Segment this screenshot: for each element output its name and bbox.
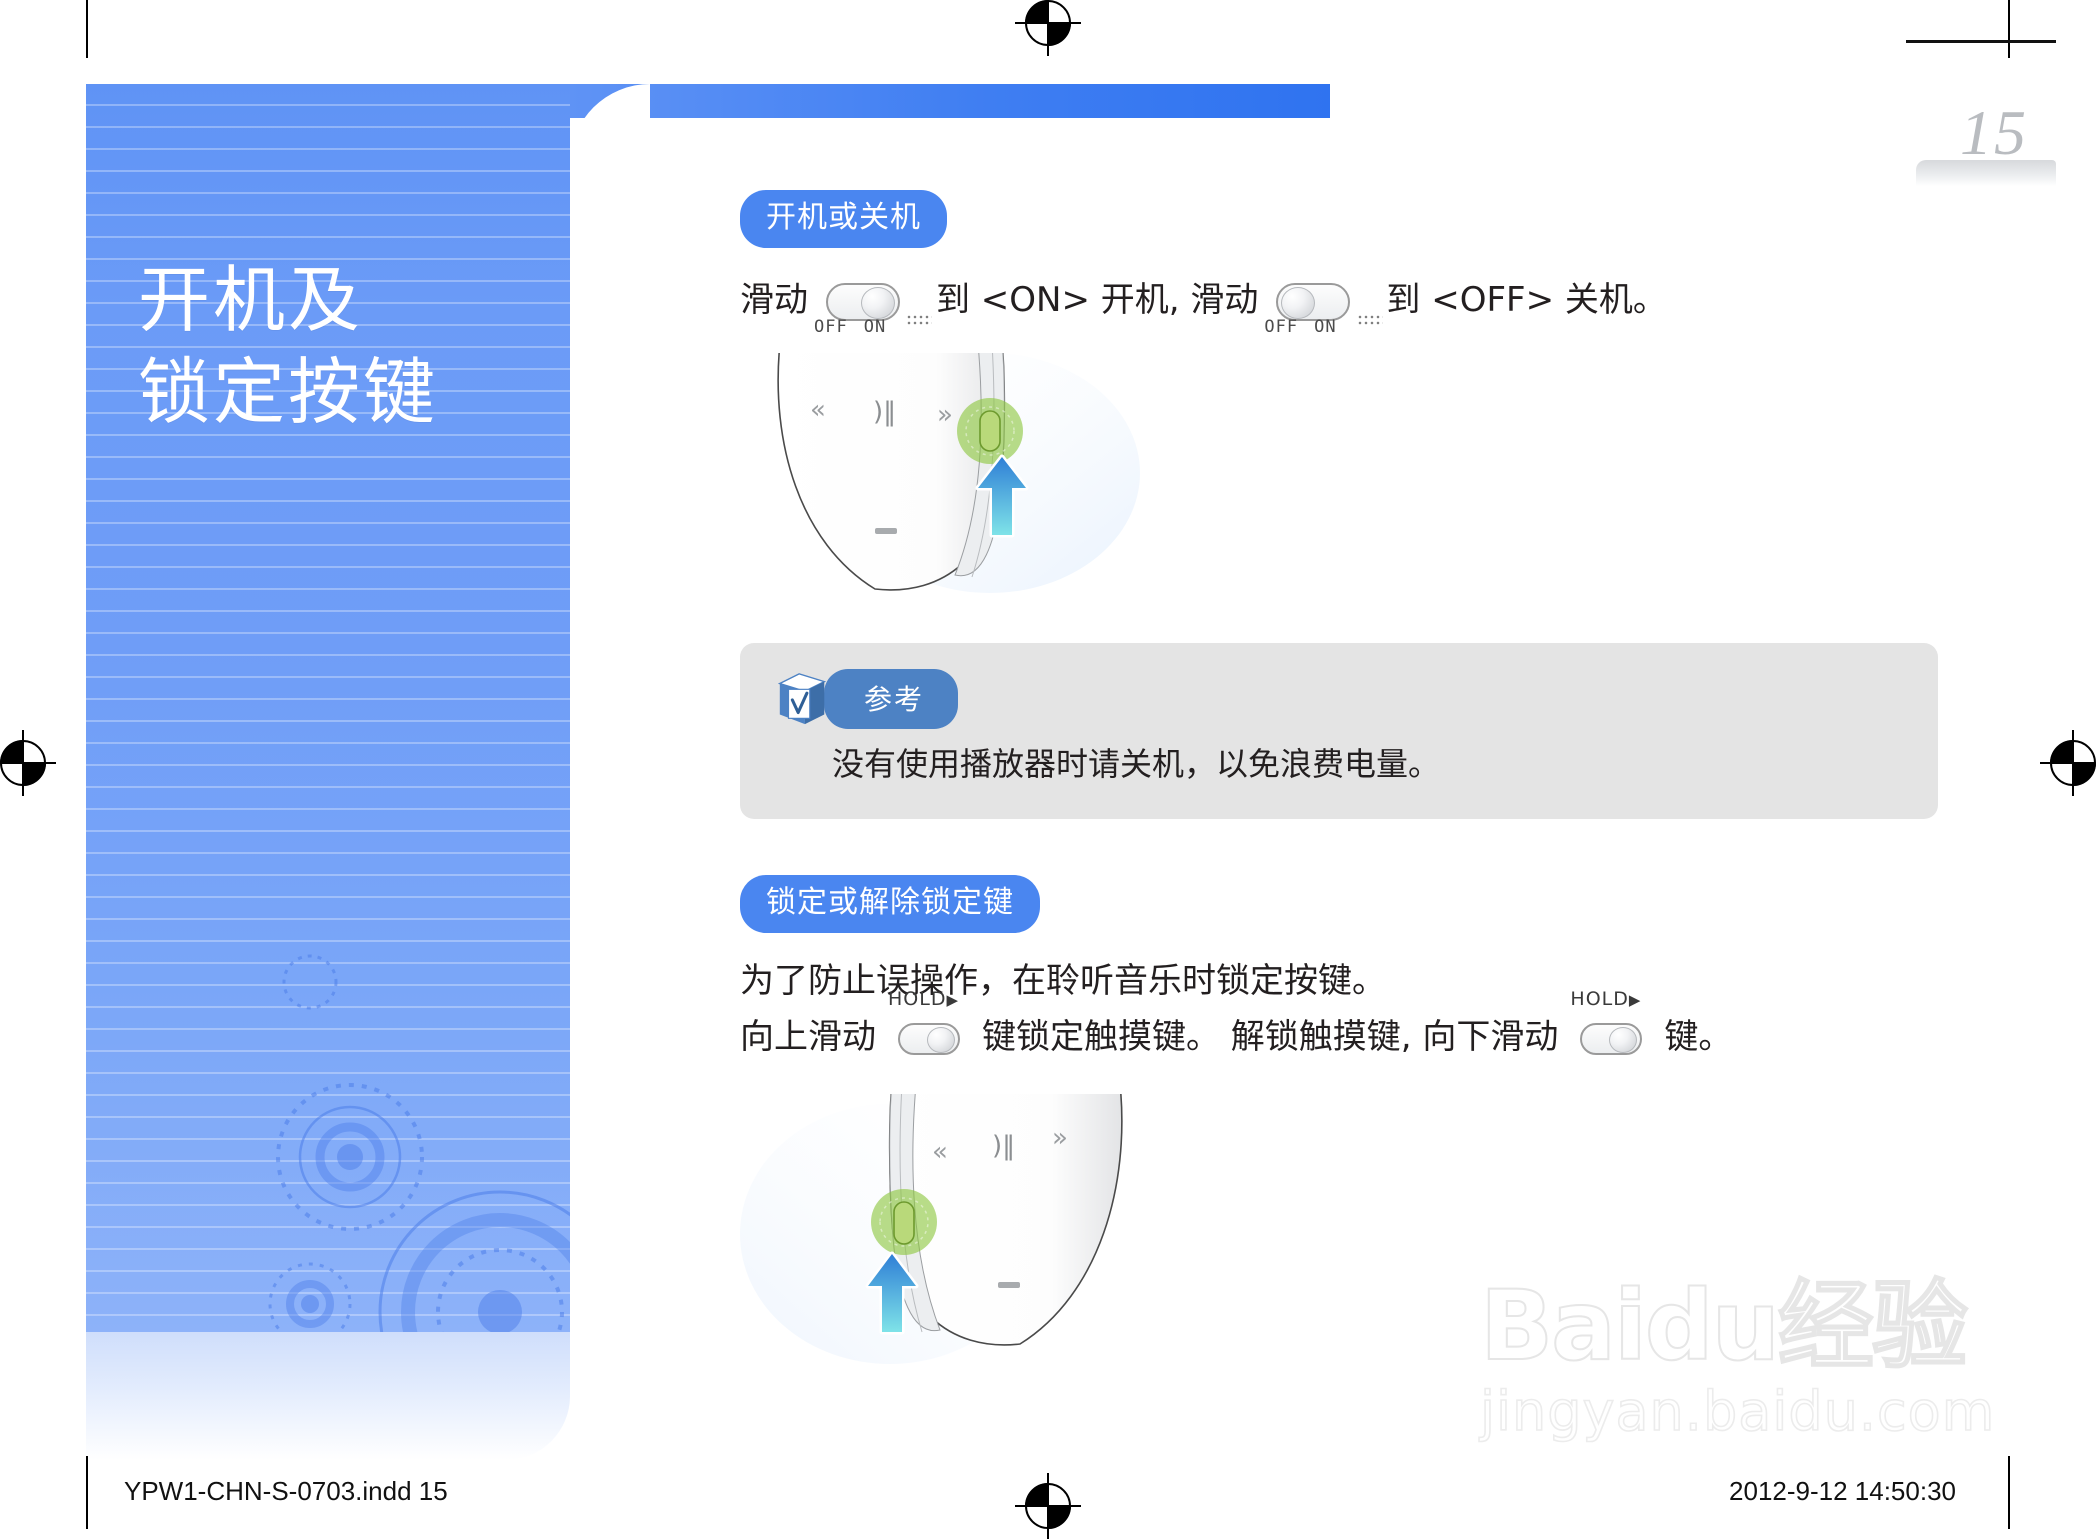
note-text: 没有使用播放器时请关机，以免浪费电量。 (832, 739, 1904, 785)
footer-filename: YPW1-CHN-S-0703.indd 15 (124, 1476, 448, 1507)
power-figure: « )‖ » (740, 353, 2040, 613)
switch-labels-on: OFF ON (814, 314, 950, 340)
hold-line-2-part-3: 键。 (1664, 1011, 1732, 1064)
watermark-sub-text: jingyan.baidu.com (1480, 1380, 2040, 1443)
braille-dots-icon (906, 314, 932, 326)
power-instruction-part-3: 到 <OFF> 关机。 (1386, 274, 1666, 327)
braille-dots-icon (1357, 314, 1383, 326)
chapter-title-line-2: 锁定按键 (138, 346, 438, 438)
svg-text:»: » (937, 400, 953, 430)
svg-text:)‖: )‖ (873, 397, 896, 427)
switch-label-on: ON (864, 314, 886, 340)
hold-label-text: HOLD (888, 988, 946, 1010)
footer-rule-left (86, 1456, 88, 1526)
triangle-right-icon: ▶ (946, 991, 959, 1009)
power-instruction: 滑动 OFF ON 到 <ON> 开机, 滑动 OFF ON (740, 274, 2040, 327)
section-hold: 锁定或解除锁定键 为了防止误操作，在聆听音乐时锁定按键。 向上滑动 HOLD▶ … (740, 875, 2040, 1374)
section-power: 开机或关机 滑动 OFF ON 到 <ON> 开机, 滑动 OFF (740, 190, 2040, 613)
crop-mark-top-right (2008, 0, 2010, 58)
chapter-title: 开机及 锁定按键 (138, 254, 438, 438)
sidebar-reflection (86, 1332, 570, 1460)
main-content: 开机或关机 滑动 OFF ON 到 <ON> 开机, 滑动 OFF (740, 190, 2040, 1374)
crop-mark-top-left (86, 0, 88, 58)
hold-line-2-part-1: 向上滑动 (740, 1011, 876, 1064)
top-rule (1906, 40, 2056, 43)
hold-figure: « )‖ » (740, 1094, 2040, 1374)
page-footer: YPW1-CHN-S-0703.indd 15 2012-9-12 14:50:… (0, 1464, 2096, 1524)
switch-knob (927, 1027, 955, 1053)
svg-text:«: « (932, 1137, 948, 1167)
chapter-sidebar: 开机及 锁定按键 (86, 84, 570, 1332)
power-switch-on-graphic: OFF ON (814, 274, 912, 327)
sidebar-top-bar (570, 84, 1330, 118)
sidebar-decorative-circles (250, 912, 570, 1332)
chapter-title-line-1: 开机及 (138, 254, 438, 346)
footer-rule-right (2008, 1456, 2010, 1526)
power-switch-off-graphic: OFF ON (1264, 274, 1362, 327)
hold-label-text: HOLD (1570, 988, 1628, 1010)
switch-track-hold-1 (898, 1023, 960, 1055)
manual-page: 15 开机及 锁定按键 (0, 0, 2096, 1529)
hold-switch-graphic-2: HOLD▶ (1568, 1011, 1654, 1064)
hold-switch-graphic-1: HOLD▶ (886, 1011, 972, 1064)
hold-line-1-text: 为了防止误操作，在聆听音乐时锁定按键。 (740, 955, 1386, 1008)
power-instruction-part-1: 滑动 (740, 274, 808, 327)
registration-mark-left (0, 740, 46, 786)
svg-text:«: « (810, 395, 826, 425)
switch-label-off: OFF (814, 314, 848, 340)
section-hold-badge: 锁定或解除锁定键 (740, 875, 1040, 933)
hold-switch-label-1: HOLD▶ (888, 985, 959, 1014)
player-power-switch-illustration: « )‖ » (740, 353, 1160, 613)
player-hold-switch-illustration: « )‖ » (740, 1094, 1160, 1374)
svg-text:»: » (1052, 1123, 1068, 1153)
note-box: 参考 没有使用播放器时请关机，以免浪费电量。 (740, 643, 1938, 819)
power-instruction-part-2: 到 <ON> 开机, 滑动 (936, 274, 1258, 327)
switch-track-hold-2 (1580, 1023, 1642, 1055)
switch-label-off: OFF (1264, 314, 1298, 340)
switch-knob (1609, 1027, 1637, 1053)
footer-timestamp: 2012-9-12 14:50:30 (1729, 1476, 1956, 1507)
switch-labels-off: OFF ON (1264, 314, 1400, 340)
svg-text:)‖: )‖ (992, 1131, 1015, 1161)
triangle-right-icon: ▶ (1629, 991, 1642, 1009)
section-power-badge: 开机或关机 (740, 190, 947, 248)
registration-mark-right (2050, 740, 2096, 786)
registration-mark-top (1025, 0, 1071, 46)
hold-line-2: 向上滑动 HOLD▶ 键锁定触摸键。 解锁触摸键, 向下滑动 HOLD▶ 键。 (740, 1011, 2040, 1064)
note-badge: 参考 (824, 669, 958, 729)
hold-switch-label-2: HOLD▶ (1570, 985, 1641, 1014)
checkbox-3d-icon (774, 670, 832, 728)
page-number: 15 (1960, 96, 2028, 170)
hold-line-2-part-2: 键锁定触摸键。 解锁触摸键, 向下滑动 (982, 1011, 1558, 1064)
note-header: 参考 (774, 669, 1904, 729)
switch-label-on: ON (1314, 314, 1336, 340)
